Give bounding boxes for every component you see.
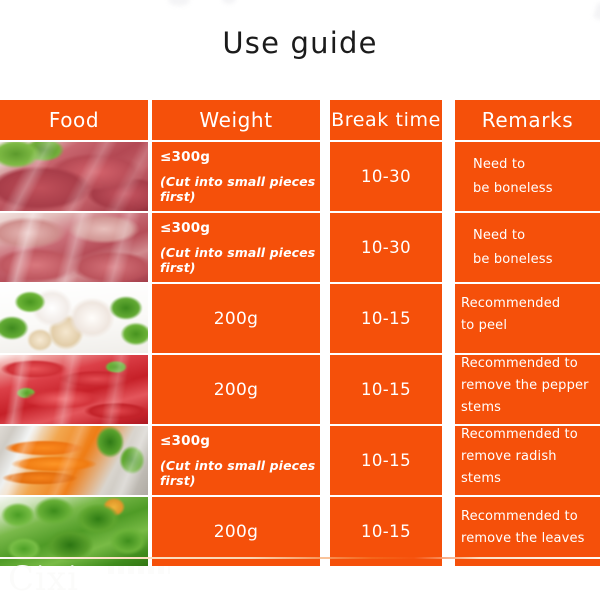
remark-line: Recommended — [461, 297, 560, 310]
table-row: 200g 10-15 Recommended to remove the lea… — [0, 497, 600, 566]
use-guide-page: Use guide Food Weight Break time Remarks… — [0, 0, 600, 600]
table-row: ≤300g (Cut into small pieces first) 10-1… — [0, 426, 600, 495]
remarks-cell: Recommended to remove the pepper stems — [455, 355, 600, 424]
food-image-cell — [0, 213, 148, 282]
break-time-cell: 10-30 — [330, 213, 442, 282]
table-row: 200g 10-15 Recommended to remove the pep… — [0, 355, 600, 424]
remark-line: Recommended to — [461, 357, 578, 370]
food-image-cell — [0, 497, 148, 566]
break-time-cell: 10-30 — [330, 142, 442, 211]
weight-note: (Cut into small pieces first) — [160, 245, 320, 275]
table-row: 200g 10-15 Recommended to peel — [0, 284, 600, 353]
remarks-cell: Need to be boneless — [455, 142, 600, 211]
remarks-cell: Recommended to remove the leaves — [455, 497, 600, 566]
remark-line: be boneless — [473, 182, 553, 195]
food-image-cell — [0, 142, 148, 211]
break-time-cell: 10-15 — [330, 284, 442, 353]
food-image-cell — [0, 426, 148, 495]
beef-slices-photo — [0, 142, 148, 211]
break-time-cell: 10-15 — [330, 426, 442, 495]
remark-line: remove the leaves — [461, 532, 585, 545]
table-row: ≤300g (Cut into small pieces first) 10-3… — [0, 142, 600, 211]
use-guide-table: Food Weight Break time Remarks ≤300g (Cu… — [0, 100, 600, 566]
page-title: Use guide — [0, 29, 600, 58]
column-header-food: Food — [0, 100, 148, 140]
break-time-cell: 10-15 — [330, 497, 442, 566]
column-header-break-time: Break time — [330, 100, 442, 140]
break-time-cell: 10-15 — [330, 355, 442, 424]
remark-line: stems — [461, 401, 501, 414]
remarks-cell: Recommended to peel — [455, 284, 600, 353]
print-artifact — [593, 2, 600, 22]
remark-line: Need to — [473, 229, 525, 242]
weight-cell: 200g — [152, 355, 320, 424]
cilantro-greens-photo — [0, 497, 148, 566]
remark-line: Recommended to — [461, 510, 578, 523]
remark-line: to peel — [461, 319, 507, 332]
remarks-cell: Need to be boneless — [455, 213, 600, 282]
weight-value: ≤300g — [160, 149, 210, 165]
food-image-cell — [0, 284, 148, 353]
table-header-row: Food Weight Break time Remarks — [0, 100, 600, 140]
print-artifact — [222, 0, 236, 4]
remarks-cell: Recommended to remove radish stems — [455, 426, 600, 495]
garlic-bulbs-photo — [0, 284, 148, 353]
weight-cell: 200g — [152, 497, 320, 566]
pork-chops-photo — [0, 213, 148, 282]
weight-value: ≤300g — [160, 220, 210, 236]
remark-line: remove the pepper — [461, 379, 589, 392]
red-chili-peppers-photo — [0, 355, 148, 424]
weight-note: (Cut into small pieces first) — [160, 458, 320, 488]
food-image-cell — [0, 355, 148, 424]
remark-line: Need to — [473, 158, 525, 171]
weight-cell: ≤300g (Cut into small pieces first) — [152, 142, 320, 211]
remark-line: stems — [461, 472, 501, 485]
print-artifact — [168, 0, 190, 6]
weight-cell: 200g — [152, 284, 320, 353]
weight-note: (Cut into small pieces first) — [160, 174, 320, 204]
column-header-remarks: Remarks — [455, 100, 600, 140]
weight-value: ≤300g — [160, 433, 210, 449]
column-header-weight: Weight — [152, 100, 320, 140]
table-row: ≤300g (Cut into small pieces first) 10-3… — [0, 213, 600, 282]
remark-line: be boneless — [473, 253, 553, 266]
weight-cell: ≤300g (Cut into small pieces first) — [152, 213, 320, 282]
weight-cell: ≤300g (Cut into small pieces first) — [152, 426, 320, 495]
carrots-photo — [0, 426, 148, 495]
remark-line: Recommended to — [461, 428, 578, 441]
remark-line: remove radish — [461, 450, 557, 463]
bottom-edge-line — [0, 557, 600, 559]
watermark-dots — [108, 566, 170, 574]
watermark: Cixi — [8, 562, 79, 596]
